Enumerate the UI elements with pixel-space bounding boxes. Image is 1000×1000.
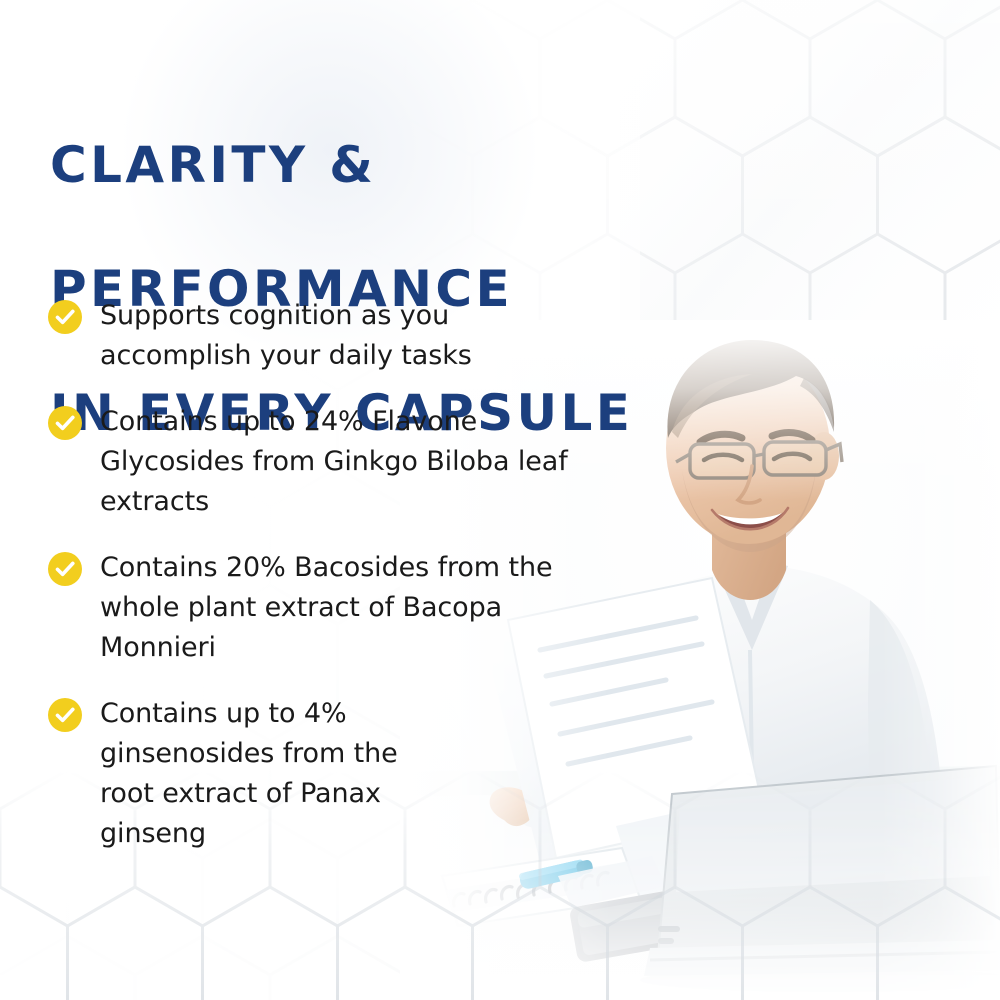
check-circle-icon (48, 552, 82, 586)
list-item: Contains up to 4% ginsenosides from the … (48, 694, 568, 854)
infographic-canvas: CLARITY & PERFORMANCE IN EVERY CAPSULE S… (0, 0, 1000, 1000)
benefit-text: Contains up to 24% Flavone Glycosides fr… (100, 402, 568, 522)
list-item: Supports cognition as you accomplish you… (48, 296, 568, 376)
benefits-list: Supports cognition as you accomplish you… (48, 296, 568, 854)
list-item: Contains 20% Bacosides from the whole pl… (48, 548, 568, 668)
list-item: Contains up to 24% Flavone Glycosides fr… (48, 402, 568, 522)
check-circle-icon (48, 406, 82, 440)
benefit-text: Contains 20% Bacosides from the whole pl… (100, 548, 568, 668)
check-circle-icon (48, 300, 82, 334)
benefit-text: Contains up to 4% ginsenosides from the … (100, 694, 410, 854)
benefit-text: Supports cognition as you accomplish you… (100, 296, 560, 376)
headline-line-1: CLARITY & (50, 134, 750, 196)
check-circle-icon (48, 698, 82, 732)
